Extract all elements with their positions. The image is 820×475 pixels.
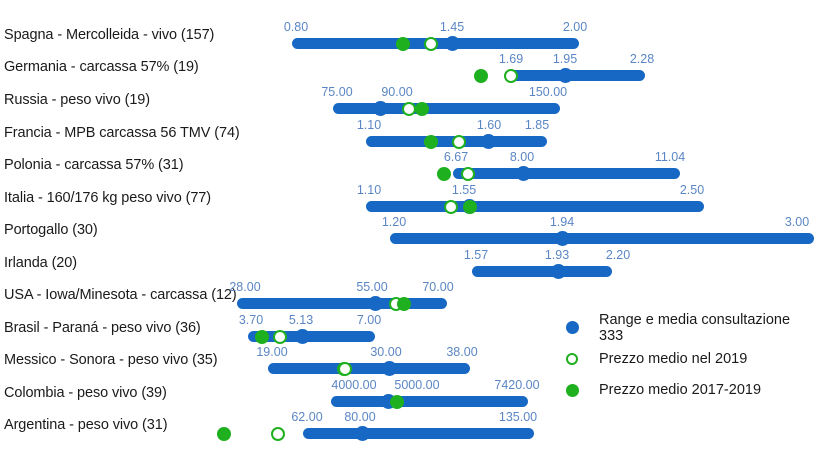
consultation-mean-dot[interactable] [373, 101, 388, 116]
mean-2017-2019-dot[interactable] [424, 135, 438, 149]
range-bar[interactable] [366, 201, 704, 212]
mean-2019-dot[interactable] [461, 167, 475, 181]
row-mean-value: 90.00 [381, 85, 412, 99]
consultation-mean-dot[interactable] [382, 361, 397, 376]
row-max-value: 2.00 [563, 20, 587, 34]
row-min-value: 75.00 [321, 85, 352, 99]
range-bar[interactable] [237, 298, 447, 309]
row-max-value: 2.20 [606, 248, 630, 262]
mean-2017-2019-dot[interactable] [474, 69, 488, 83]
mean-2019-dot[interactable] [402, 102, 416, 116]
row-max-value: 135.00 [499, 410, 537, 424]
row-label: Polonia - carcassa 57% (31) [4, 157, 183, 173]
row-min-value: 6.67 [444, 150, 468, 164]
green-open-ring-icon [566, 353, 578, 365]
consultation-mean-dot[interactable] [555, 231, 570, 246]
mean-2017-2019-dot[interactable] [437, 167, 451, 181]
row-mean-value: 5000.00 [394, 378, 439, 392]
consultation-mean-dot[interactable] [355, 426, 370, 441]
row-max-value: 11.04 [655, 150, 685, 164]
row-label: Irlanda (20) [4, 255, 77, 271]
mean-2017-2019-dot[interactable] [255, 330, 269, 344]
mean-2017-2019-dot[interactable] [390, 395, 404, 409]
row-mean-value: 5.13 [289, 313, 313, 327]
row-min-value: 1.57 [464, 248, 488, 262]
consultation-mean-dot[interactable] [481, 134, 496, 149]
green-filled-dot-icon [566, 384, 579, 397]
chart-row[interactable]: Argentina - peso vivo (31) 62.00 80.00 1… [0, 410, 820, 443]
consultation-mean-dot[interactable] [445, 36, 460, 51]
chart-row[interactable]: USA - Iowa/Minesota - carcassa (12) 28.0… [0, 280, 820, 313]
row-max-value: 1.85 [525, 118, 549, 132]
row-mean-value: 1.55 [452, 183, 476, 197]
range-bar[interactable] [453, 168, 680, 179]
row-min-value: 4000.00 [331, 378, 376, 392]
legend-label: Range e media consultazione 333 [599, 312, 817, 344]
row-label: Argentina - peso vivo (31) [4, 417, 167, 433]
mean-2017-2019-dot[interactable] [415, 102, 429, 116]
row-min-value: 62.00 [291, 410, 322, 424]
row-max-value: 2.50 [680, 183, 704, 197]
chart-row[interactable]: Portogallo (30) 1.20 1.94 3.00 [0, 215, 820, 248]
row-mean-value: 1.95 [553, 52, 577, 66]
row-label: Portogallo (30) [4, 222, 98, 238]
chart-row[interactable]: Francia - MPB carcassa 56 TMV (74) 1.10 … [0, 118, 820, 151]
mean-2019-dot[interactable] [271, 427, 285, 441]
row-min-value: 0.80 [284, 20, 308, 34]
row-label: Russia - peso vivo (19) [4, 92, 150, 108]
range-bar[interactable] [268, 363, 470, 374]
mean-2019-dot[interactable] [444, 200, 458, 214]
chart-row[interactable]: Spagna - Mercolleida - vivo (157) 0.80 1… [0, 20, 820, 53]
row-mean-value: 55.00 [356, 280, 387, 294]
mean-2019-dot[interactable] [338, 362, 352, 376]
chart-row[interactable]: Germania - carcassa 57% (19) 1.69 1.95 2… [0, 52, 820, 85]
row-label: Messico - Sonora - peso vivo (35) [4, 352, 217, 368]
row-mean-value: 80.00 [344, 410, 375, 424]
row-mean-value: 1.60 [477, 118, 501, 132]
range-bar[interactable] [333, 103, 560, 114]
row-label: Brasil - Paraná - peso vivo (36) [4, 320, 201, 336]
row-label: Germania - carcassa 57% (19) [4, 59, 199, 75]
row-label: USA - Iowa/Minesota - carcassa (12) [4, 287, 237, 303]
legend-label: Prezzo medio nel 2019 [599, 351, 817, 367]
mean-2017-2019-dot[interactable] [396, 37, 410, 51]
row-max-value: 70.00 [422, 280, 453, 294]
mean-2017-2019-dot[interactable] [217, 427, 231, 441]
legend-label: Prezzo medio 2017-2019 [599, 382, 817, 398]
row-mean-value: 1.45 [440, 20, 464, 34]
row-max-value: 3.00 [785, 215, 809, 229]
row-max-value: 2.28 [630, 52, 654, 66]
mean-2019-dot[interactable] [424, 37, 438, 51]
mean-2019-dot[interactable] [504, 69, 518, 83]
row-min-value: 3.70 [239, 313, 263, 327]
row-label: Francia - MPB carcassa 56 TMV (74) [4, 125, 240, 141]
row-max-value: 7420.00 [494, 378, 539, 392]
row-max-value: 150.00 [529, 85, 567, 99]
row-min-value: 28.00 [229, 280, 260, 294]
blue-filled-dot-icon [566, 321, 579, 334]
mean-2017-2019-dot[interactable] [463, 200, 477, 214]
range-bar[interactable] [303, 428, 534, 439]
consultation-mean-dot[interactable] [368, 296, 383, 311]
row-mean-value: 30.00 [370, 345, 401, 359]
chart-row[interactable]: Polonia - carcassa 57% (31) 6.67 8.00 11… [0, 150, 820, 183]
consultation-mean-dot[interactable] [295, 329, 310, 344]
mean-2019-dot[interactable] [273, 330, 287, 344]
row-min-value: 1.10 [357, 183, 381, 197]
row-mean-value: 1.93 [545, 248, 569, 262]
row-max-value: 7.00 [357, 313, 381, 327]
range-bar[interactable] [390, 233, 814, 244]
row-label: Italia - 160/176 kg peso vivo (77) [4, 190, 211, 206]
consultation-mean-dot[interactable] [516, 166, 531, 181]
row-mean-value: 8.00 [510, 150, 534, 164]
row-min-value: 19.00 [256, 345, 287, 359]
row-min-value: 1.10 [357, 118, 381, 132]
row-label: Colombia - peso vivo (39) [4, 385, 167, 401]
chart-row[interactable]: Russia - peso vivo (19) 75.00 90.00 150.… [0, 85, 820, 118]
row-min-value: 1.69 [499, 52, 523, 66]
row-min-value: 1.20 [382, 215, 406, 229]
row-mean-value: 1.94 [550, 215, 574, 229]
consultation-mean-dot[interactable] [558, 68, 573, 83]
range-bar[interactable] [472, 266, 612, 277]
chart-row[interactable]: Italia - 160/176 kg peso vivo (77) 1.10 … [0, 183, 820, 216]
row-label: Spagna - Mercolleida - vivo (157) [4, 27, 214, 43]
consultation-mean-dot[interactable] [551, 264, 566, 279]
mean-2017-2019-dot[interactable] [397, 297, 411, 311]
price-range-chart: Spagna - Mercolleida - vivo (157) 0.80 1… [0, 0, 820, 475]
range-bar[interactable] [508, 70, 645, 81]
chart-row[interactable]: Irlanda (20) 1.57 1.93 2.20 [0, 248, 820, 281]
mean-2019-dot[interactable] [452, 135, 466, 149]
range-bar[interactable] [331, 396, 528, 407]
row-max-value: 38.00 [446, 345, 477, 359]
